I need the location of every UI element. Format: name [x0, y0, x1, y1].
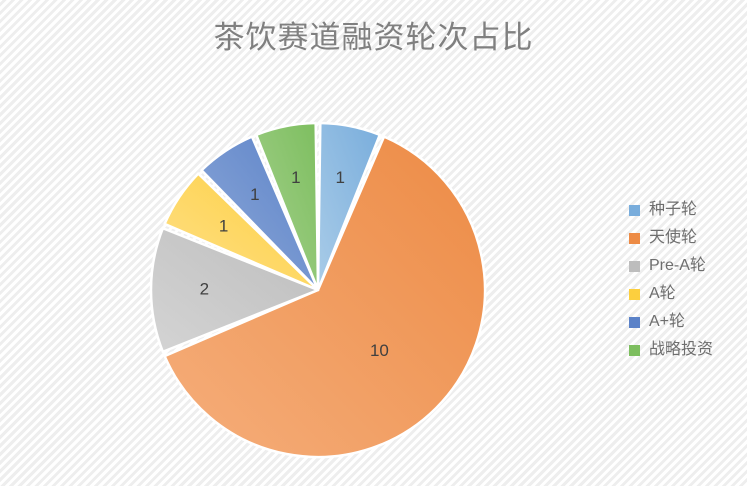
pie-slice-value-label: 1 — [291, 168, 300, 187]
legend-item[interactable]: 种子轮 — [629, 196, 747, 224]
legend-item[interactable]: Pre-A轮 — [629, 252, 747, 280]
pie-slice-value-label: 2 — [200, 279, 209, 298]
legend-swatch-icon — [629, 233, 640, 244]
pie-slice-value-label: 10 — [370, 341, 389, 360]
pie-slice-value-label: 1 — [250, 185, 259, 204]
legend-swatch-icon — [629, 205, 640, 216]
pie-chart-svg: 1102111 — [148, 120, 488, 460]
legend-item-label: A轮 — [649, 286, 676, 302]
legend-item-label: A+轮 — [649, 314, 685, 330]
pie-slice-value-label: 1 — [335, 168, 344, 187]
legend-item[interactable]: 战略投资 — [629, 336, 747, 364]
legend-item[interactable]: A轮 — [629, 280, 747, 308]
legend-swatch-icon — [629, 317, 640, 328]
legend-swatch-icon — [629, 261, 640, 272]
legend-swatch-icon — [629, 289, 640, 300]
legend-item[interactable]: A+轮 — [629, 308, 747, 336]
legend-item-label: 战略投资 — [649, 342, 713, 358]
legend-item-label: 天使轮 — [649, 230, 697, 246]
chart-canvas: 茶饮赛道融资轮次占比 1102111 种子轮天使轮Pre-A轮A轮A+轮战略投资 — [0, 0, 747, 486]
pie-chart: 1102111 — [148, 120, 488, 460]
pie-slice-value-label: 1 — [219, 216, 228, 235]
legend-item-label: Pre-A轮 — [649, 258, 706, 274]
legend-swatch-icon — [629, 345, 640, 356]
legend-item[interactable]: 天使轮 — [629, 224, 747, 252]
legend-item-label: 种子轮 — [649, 202, 697, 218]
chart-title: 茶饮赛道融资轮次占比 — [0, 12, 747, 57]
legend: 种子轮天使轮Pre-A轮A轮A+轮战略投资 — [629, 196, 747, 364]
